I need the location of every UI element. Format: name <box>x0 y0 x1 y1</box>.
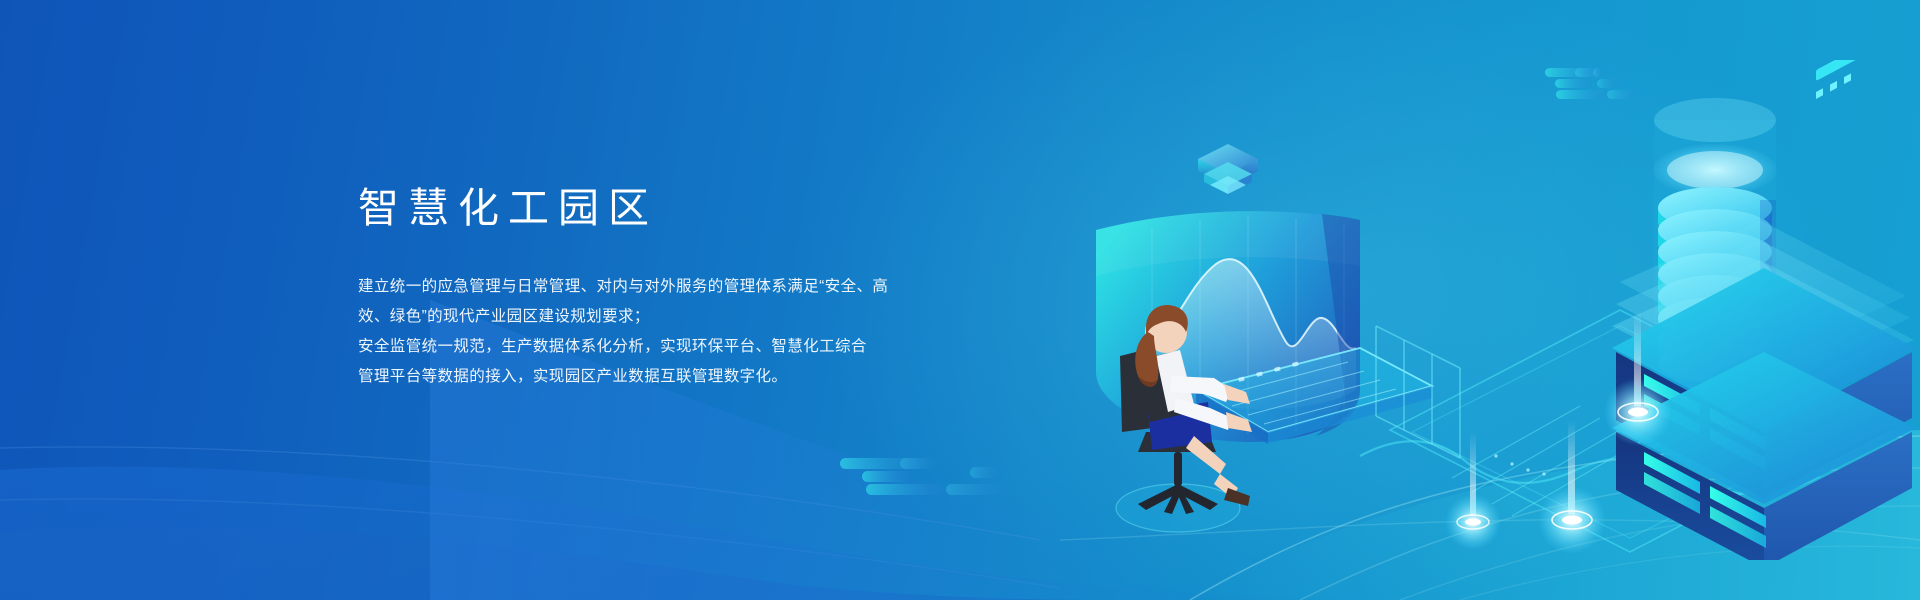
isometric-illustration <box>1060 60 1920 560</box>
cloud-mid-left <box>838 452 1048 502</box>
wave-bottom-left-2 <box>0 526 1120 600</box>
server-cabinet-upper <box>1612 60 1916 498</box>
wave-line-right-2 <box>1300 468 1920 600</box>
server-blades-upper <box>1644 374 1766 470</box>
description-line: 效、绿色”的现代产业园区建设规划要求； <box>358 302 938 332</box>
person-legs <box>1186 436 1250 506</box>
floating-cube-icon <box>1196 142 1260 207</box>
light-beam-node-c <box>1445 432 1501 550</box>
wave-bottom-right-mass <box>1180 430 1920 600</box>
description-line: 管理平台等数据的接入，实现园区产业数据互联管理数字化。 <box>358 362 938 392</box>
server-indicator-panel-lower <box>1816 60 1860 99</box>
seated-person <box>1116 305 1252 532</box>
tower-rain <box>1672 60 1766 152</box>
server-cabinet-lower <box>1612 60 1916 560</box>
server-blades-lower <box>1644 452 1766 548</box>
curved-data-screen <box>1096 211 1360 442</box>
description-line: 安全监管统一规范，生产数据体系化分析，实现环保平台、智慧化工综合 <box>358 332 938 362</box>
tower-halo <box>1653 144 1777 196</box>
wave-line-left-2 <box>0 499 1060 588</box>
server-rack <box>1612 60 1916 560</box>
tower-discs <box>1658 187 1772 399</box>
wave-line-right-3 <box>1400 506 1920 600</box>
wave-line-right-1 <box>1190 436 1920 600</box>
cloud-top-right <box>1545 68 1715 114</box>
glowing-keyboard <box>1196 326 1460 458</box>
wave-line-left-1 <box>0 447 1040 540</box>
page-title: 智慧化工园区 <box>358 186 978 232</box>
circuit-platform <box>1360 310 1860 552</box>
wave-line-right-5 <box>1460 546 1920 600</box>
description-line: 建立统一的应急管理与日常管理、对内与对外服务的管理体系满足“安全、高 <box>358 272 938 302</box>
keyboard-light-panes <box>1376 326 1460 458</box>
wave-line-right-4 <box>1060 520 1920 540</box>
office-chair <box>1120 350 1218 514</box>
hero-banner: 智慧化工园区 建立统一的应急管理与日常管理、对内与对外服务的管理体系满足“安全、… <box>0 0 1920 600</box>
light-beam-node-b <box>1538 420 1606 554</box>
wave-bottom-left-1 <box>0 467 1420 600</box>
light-beam-node-a <box>1604 310 1672 446</box>
stacked-data-tower <box>1653 60 1777 399</box>
hero-description: 建立统一的应急管理与日常管理、对内与对外服务的管理体系满足“安全、高 效、绿色”… <box>358 232 938 392</box>
hero-copy: 智慧化工园区 建立统一的应急管理与日常管理、对内与对外服务的管理体系满足“安全、… <box>358 186 978 392</box>
